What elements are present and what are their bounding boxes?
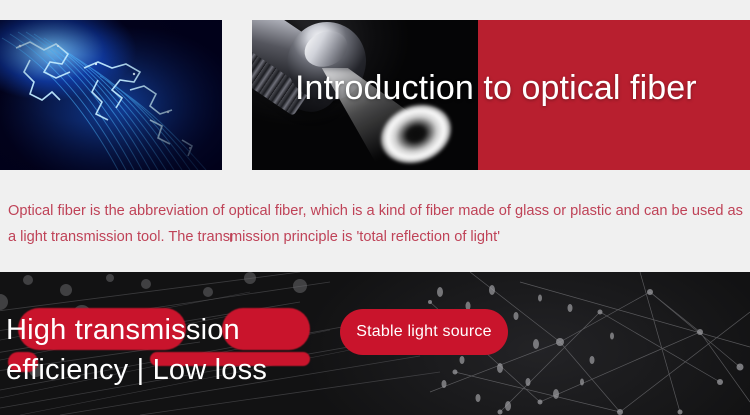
- fiber-vignette: [0, 20, 222, 170]
- hero-band: Introduction to optical fiber: [0, 0, 750, 190]
- stable-light-source-tag[interactable]: Stable light source: [340, 309, 508, 355]
- stable-light-source-label: Stable light source: [356, 323, 491, 341]
- blue-fiber-optic-image: [0, 20, 222, 170]
- slide-canvas: Introduction to optical fiber Optical fi…: [0, 0, 750, 415]
- description-paragraph: Optical fiber is the abbreviation of opt…: [8, 198, 746, 250]
- description-text: Optical fiber is the abbreviation of opt…: [8, 203, 743, 245]
- text-cursor-marker: [230, 233, 232, 242]
- banner-headline: High transmission efficiency | Low loss: [6, 310, 346, 390]
- page-title: Introduction to optical fiber: [295, 68, 750, 108]
